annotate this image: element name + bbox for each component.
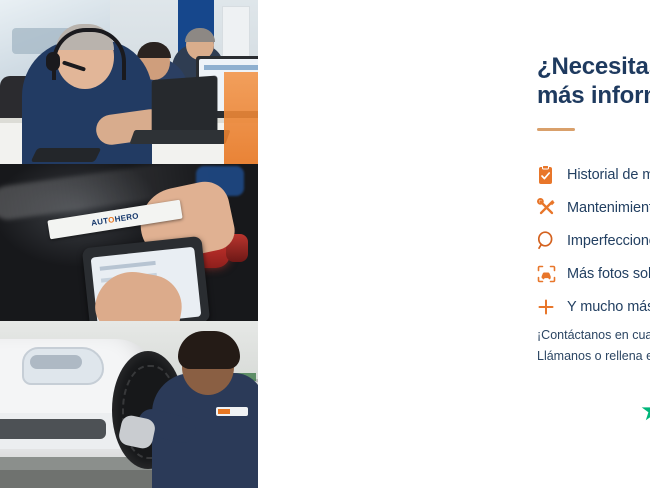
trustpilot-logo: Trustpilot [641, 399, 650, 422]
feature-label: Y mucho más [567, 299, 650, 315]
feature-item-maintenance-history: Historial de mantenimientos [537, 158, 650, 191]
trustpilot-star-icon [641, 399, 650, 422]
plus-icon [537, 296, 567, 318]
call-center-agents-photo [0, 0, 258, 164]
car-inspection-photo: AUTOHERO [0, 164, 258, 321]
contact-line-2: Llámanos o rellena el formulario de cont… [537, 346, 650, 367]
contact-line-1: ¡Contáctanos en cualquier momento para m… [537, 325, 650, 346]
workshop-mechanic-photo [0, 321, 258, 488]
car-grille [0, 419, 106, 439]
wall-poster [222, 6, 250, 60]
feature-label: Imperfecciones [567, 233, 650, 249]
title-underline-rule [537, 128, 575, 131]
laptop-base [129, 130, 230, 144]
magnifier-icon [537, 230, 567, 252]
photo-column: AUTOHERO [0, 0, 258, 488]
page-title-line-2: más información? [537, 81, 650, 110]
feature-item-more-photos: Más fotos sobre el coche [537, 257, 650, 290]
orange-partition [224, 72, 258, 164]
feature-label: Historial de mantenimientos [567, 167, 650, 183]
desk-tablet [31, 148, 102, 162]
feature-item-maintenance-done: Mantenimiento realizado [537, 191, 650, 224]
feature-label: Más fotos sobre el coche [567, 266, 650, 282]
clipboard-check-icon [537, 164, 567, 186]
page-title: ¿Necesitas más información? [537, 52, 650, 110]
headlight-inner [30, 355, 82, 369]
feature-item-imperfections: Imperfecciones [537, 224, 650, 257]
feature-item-much-more: Y mucho más [537, 290, 650, 323]
trustpilot-widget[interactable]: Trustpilot Excelente [641, 388, 650, 448]
info-card: AUTOHERO [0, 0, 650, 488]
mechanic-hair [178, 331, 240, 369]
page-title-line-1: ¿Necesitas [537, 52, 650, 81]
feature-label: Mantenimiento realizado [567, 200, 650, 216]
headset-earcup [46, 52, 60, 71]
content-panel: ¿Necesitas más información? Estamos enca… [258, 0, 650, 488]
feature-list: Historial de mantenimientos Mantenimient… [537, 158, 650, 323]
car-scan-icon [537, 263, 567, 285]
tools-cross-icon [537, 197, 567, 219]
uniform-logo [216, 407, 248, 416]
contact-copy: ¡Contáctanos en cualquier momento para m… [537, 325, 650, 367]
